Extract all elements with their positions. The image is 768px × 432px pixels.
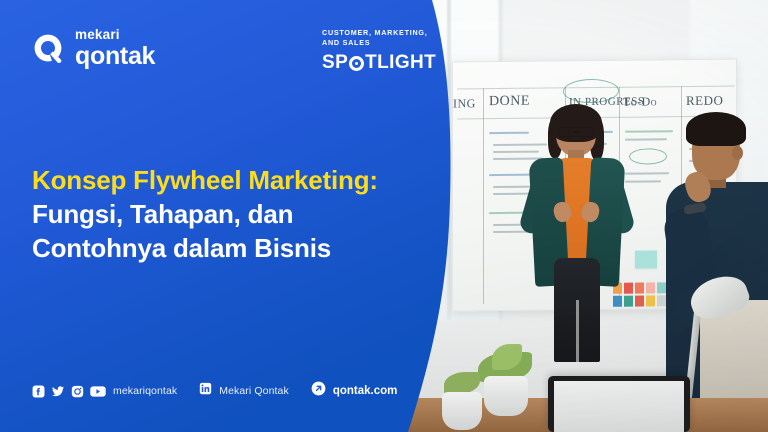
page-title: Konsep Flywheel Marketing: Fungsi, Tahap… — [32, 163, 432, 265]
logo-text-qontak: qontak — [75, 44, 155, 69]
facebook-icon[interactable] — [32, 385, 45, 398]
footer-bar: mekariqontak Mekari Qontak qontak.com — [32, 381, 397, 401]
youtube-icon[interactable] — [90, 385, 106, 398]
social-handle-group[interactable]: mekariqontak — [32, 385, 177, 398]
twitter-icon[interactable] — [51, 385, 65, 398]
spotlight-badge: CUSTOMER, MARKETING, AND SALES SP TLIGHT — [322, 28, 452, 74]
spotlight-kicker-line2: AND SALES — [322, 38, 452, 48]
qontak-circle-logo-icon — [32, 32, 64, 64]
spotlight-kicker-line1: CUSTOMER, MARKETING, — [322, 28, 452, 38]
instagram-icon[interactable] — [71, 385, 84, 398]
headline-line-3: Contohnya dalam Bisnis — [32, 231, 432, 265]
logo-text-mekari: mekari — [75, 28, 155, 42]
linkedin-group[interactable]: Mekari Qontak — [199, 382, 289, 400]
spotlight-title: SP TLIGHT — [322, 52, 452, 74]
brand-logo[interactable]: mekari qontak — [32, 28, 155, 69]
website-label: qontak.com — [333, 385, 398, 397]
headline-line-2: Fungsi, Tahapan, dan — [32, 197, 432, 231]
spotlight-title-before: SP — [322, 52, 348, 74]
social-handle-label: mekariqontak — [113, 385, 177, 397]
spotlight-title-after: TLIGHT — [365, 52, 436, 74]
website-group[interactable]: qontak.com — [311, 381, 398, 401]
linkedin-icon[interactable] — [199, 382, 212, 400]
headline-line-1: Konsep Flywheel Marketing: — [32, 163, 432, 197]
linkedin-label: Mekari Qontak — [219, 385, 289, 397]
external-link-arrow-icon[interactable] — [311, 381, 326, 401]
panel-content: mekari qontak CUSTOMER, MARKETING, AND S… — [0, 0, 470, 432]
spotlight-o-icon — [349, 56, 364, 71]
